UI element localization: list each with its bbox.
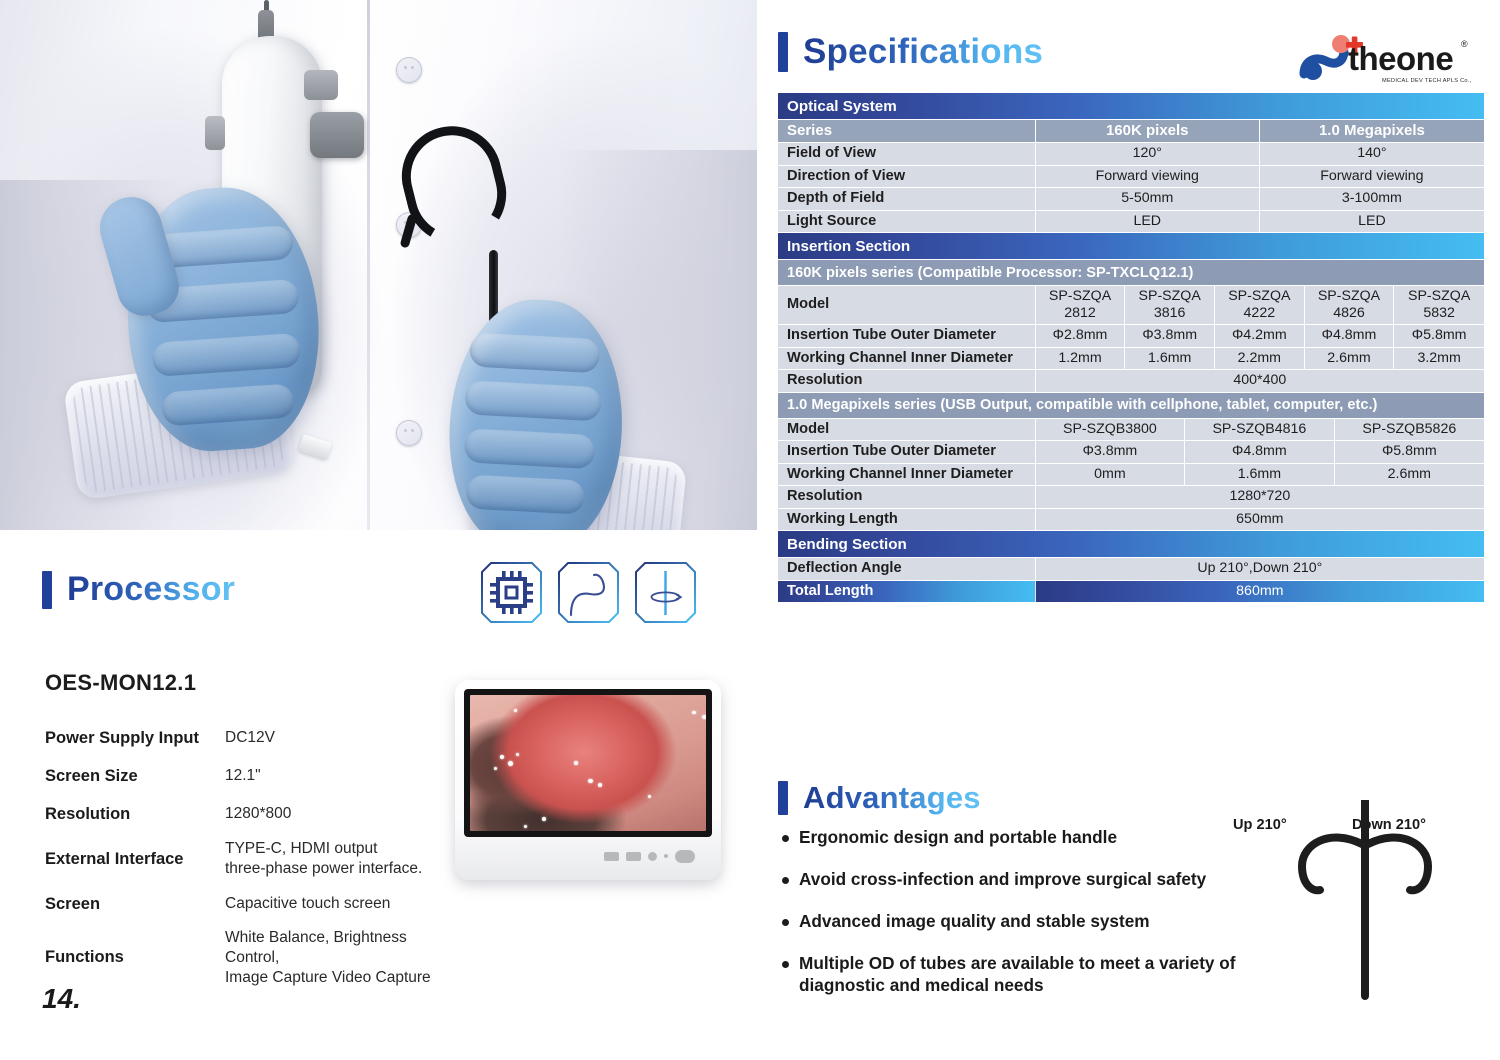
cell-value: 120° — [1036, 143, 1260, 166]
cell-value: Up 210°,Down 210° — [1036, 558, 1484, 581]
deflection-angle-diagram — [1250, 800, 1480, 1030]
row-label: Working Channel Inner Diameter — [778, 348, 1036, 371]
model-suffix: 4222 — [1244, 305, 1276, 321]
spec-key: Screen — [45, 895, 225, 914]
cell-value: Forward viewing — [1036, 166, 1260, 189]
table-row: Insertion Tube Outer Diameter Φ3.8mm Φ4.… — [778, 441, 1484, 464]
series-col-1mp: 1.0 Megapixels — [1260, 120, 1484, 143]
coat-button — [396, 57, 422, 83]
advantages-heading: Advantages — [778, 780, 981, 816]
theone-brand-logo: theone ® MEDICAL DEV TECH APLS Co., Ltd. — [1296, 30, 1472, 88]
advantages-title: Advantages — [803, 780, 981, 816]
row-label: Direction of View — [778, 166, 1036, 189]
table-row: Resolution 400*400 — [778, 370, 1484, 393]
model-suffix: 2812 — [1064, 305, 1096, 321]
row-label: Insertion Tube Outer Diameter — [778, 325, 1036, 348]
spec-value: White Balance, Brightness Control, Image… — [225, 928, 465, 987]
subband-160k-series: 160K pixels series (Compatible Processor… — [778, 260, 1484, 286]
cell-value: Φ4.2mm — [1215, 325, 1305, 348]
table-row-series-header: Series 160K pixels 1.0 Megapixels — [778, 120, 1484, 143]
rotation-axis-icon — [634, 561, 697, 624]
table-row: Field of View 120° 140° — [778, 143, 1484, 166]
model-suffix: 4826 — [1333, 305, 1365, 321]
row-label: Model — [778, 286, 1036, 325]
scope-trigger — [205, 116, 225, 150]
spec-row: Screen Capacitive touch screen — [45, 888, 465, 920]
table-row-models-1mp: Model SP-SZQB3800 SP-SZQB4816 SP-SZQB582… — [778, 419, 1484, 442]
accent-bar — [778, 32, 788, 72]
cell-value: Forward viewing — [1260, 166, 1484, 189]
cell-value: Φ2.8mm — [1036, 325, 1126, 348]
spec-row: Functions White Balance, Brightness Cont… — [45, 928, 465, 987]
processor-title: Processor — [67, 570, 235, 609]
cell-value: SP-SZQA2812 — [1036, 286, 1126, 325]
row-label: Light Source — [778, 211, 1036, 234]
cell-value: 1.6mm — [1125, 348, 1215, 371]
table-row: Deflection Angle Up 210°,Down 210° — [778, 558, 1484, 581]
table-row: Working Channel Inner Diameter 1.2mm 1.6… — [778, 348, 1484, 371]
model-suffix: 5832 — [1423, 305, 1455, 321]
scope-control-knob — [310, 112, 364, 158]
row-label: Working Channel Inner Diameter — [778, 464, 1036, 487]
hero-photo-doctor-with-endoscope — [0, 0, 757, 530]
cell-value: 1.2mm — [1036, 348, 1126, 371]
cell-value: SP-SZQB5826 — [1335, 419, 1484, 442]
band-insertion-section: Insertion Section — [778, 233, 1484, 260]
accent-bar — [42, 571, 52, 609]
coat-seam — [367, 0, 370, 530]
table-row: Working Length 650mm — [778, 509, 1484, 532]
spec-value: Capacitive touch screen — [225, 894, 390, 914]
spec-value: 1280*800 — [225, 804, 291, 824]
cell-value: SP-SZQA5832 — [1394, 286, 1484, 325]
model-prefix: SP-SZQA — [1139, 288, 1201, 304]
cell-value: 2.2mm — [1215, 348, 1305, 371]
spec-row: Power Supply Input DC12V — [45, 722, 465, 754]
spec-key: Screen Size — [45, 767, 225, 786]
row-label: Resolution — [778, 370, 1036, 393]
cell-value: Φ4.8mm — [1305, 325, 1395, 348]
spec-key: Functions — [45, 948, 225, 967]
table-row: Working Channel Inner Diameter 0mm 1.6mm… — [778, 464, 1484, 487]
brochure-page: Processor — [0, 0, 1500, 1060]
specifications-table: Optical System Series 160K pixels 1.0 Me… — [778, 93, 1484, 603]
model-suffix: 3816 — [1154, 305, 1186, 321]
series-label: Series — [778, 120, 1036, 143]
row-label: Field of View — [778, 143, 1036, 166]
monitor-indicator-led — [664, 854, 668, 858]
row-label: Working Length — [778, 509, 1036, 532]
advantage-text: Ergonomic design and portable handle — [799, 826, 1117, 848]
advantages-list: Ergonomic design and portable handle Avo… — [782, 826, 1272, 1016]
advantage-text: Avoid cross-infection and improve surgic… — [799, 868, 1206, 890]
cell-value: SP-SZQA4222 — [1215, 286, 1305, 325]
svg-text:MEDICAL DEV TECH APLS Co., Ltd: MEDICAL DEV TECH APLS Co., Ltd. — [1382, 78, 1472, 84]
series-col-160k: 160K pixels — [1036, 120, 1260, 143]
row-label: Model — [778, 419, 1036, 442]
left-column: Processor — [0, 0, 760, 1060]
row-label: Insertion Tube Outer Diameter — [778, 441, 1036, 464]
cell-value: 400*400 — [1036, 370, 1484, 393]
table-row: Insertion Tube Outer Diameter Φ2.8mm Φ3.… — [778, 325, 1484, 348]
cell-value: 1.6mm — [1185, 464, 1334, 487]
list-item: Multiple OD of tubes are available to me… — [782, 952, 1272, 996]
spec-row: Screen Size 12.1" — [45, 760, 465, 792]
cell-value: 3-100mm — [1260, 188, 1484, 211]
cell-value: Φ3.8mm — [1125, 325, 1215, 348]
monitor-bezel — [464, 689, 712, 837]
endoscopic-image-screen — [470, 695, 706, 831]
cell-value: SP-SZQA4826 — [1305, 286, 1395, 325]
processor-model-name: OES-MON12.1 — [45, 670, 196, 696]
flexible-curve-icon — [557, 561, 620, 624]
cell-value: SP-SZQB4816 — [1185, 419, 1334, 442]
logo-swoosh-icon — [1304, 35, 1350, 80]
specifications-heading: Specifications — [778, 32, 1043, 72]
band-optical-system: Optical System — [778, 93, 1484, 120]
cell-value: LED — [1036, 211, 1260, 234]
monitor-power-button[interactable] — [675, 850, 695, 863]
list-item: Ergonomic design and portable handle — [782, 826, 1272, 848]
processor-spec-list: Power Supply Input DC12V Screen Size 12.… — [45, 722, 465, 993]
cell-value: 2.6mm — [1305, 348, 1395, 371]
table-row: Depth of Field 5-50mm 3-100mm — [778, 188, 1484, 211]
monitor-button[interactable] — [626, 852, 641, 861]
subband-1mp-series: 1.0 Megapixels series (USB Output, compa… — [778, 393, 1484, 419]
cell-value: 860mm — [1036, 581, 1484, 604]
cell-value: 5-50mm — [1036, 188, 1260, 211]
advantage-text: Multiple OD of tubes are available to me… — [799, 952, 1272, 996]
cell-value: Φ3.8mm — [1036, 441, 1185, 464]
row-label: Deflection Angle — [778, 558, 1036, 581]
bullet-icon — [782, 835, 789, 842]
bullet-icon — [782, 877, 789, 884]
cell-value: Φ5.8mm — [1394, 325, 1484, 348]
bullet-icon — [782, 961, 789, 968]
cell-value: LED — [1260, 211, 1484, 234]
table-row: Light Source LED LED — [778, 211, 1484, 234]
bullet-icon — [782, 919, 789, 926]
accent-bar — [778, 781, 788, 815]
monitor-button[interactable] — [604, 852, 619, 861]
cell-value: Φ5.8mm — [1335, 441, 1484, 464]
spec-key: Resolution — [45, 805, 225, 824]
list-item: Avoid cross-infection and improve surgic… — [782, 868, 1272, 890]
model-prefix: SP-SZQA — [1408, 288, 1470, 304]
advantage-text: Advanced image quality and stable system — [799, 910, 1150, 932]
svg-text:®: ® — [1461, 39, 1468, 49]
model-prefix: SP-SZQA — [1049, 288, 1111, 304]
cell-value: 140° — [1260, 143, 1484, 166]
spec-key: Power Supply Input — [45, 729, 225, 748]
spec-value: TYPE-C, HDMI output three-phase power in… — [225, 839, 422, 879]
spec-row: Resolution 1280*800 — [45, 798, 465, 830]
coat-button — [396, 420, 422, 446]
specifications-title: Specifications — [803, 32, 1043, 72]
band-bending-section: Bending Section — [778, 531, 1484, 558]
cell-value: 2.6mm — [1335, 464, 1484, 487]
monitor-control-panel — [455, 838, 721, 874]
row-label: Depth of Field — [778, 188, 1036, 211]
table-row: Direction of View Forward viewing Forwar… — [778, 166, 1484, 189]
spec-value: DC12V — [225, 728, 275, 748]
row-label: Total Length — [778, 581, 1036, 604]
cell-value: Φ4.8mm — [1185, 441, 1334, 464]
chip-icon — [480, 561, 543, 624]
cell-value: 3.2mm — [1394, 348, 1484, 371]
cell-value: SP-SZQB3800 — [1036, 419, 1185, 442]
table-row-models-160k: Model SP-SZQA2812 SP-SZQA3816 SP-SZQA422… — [778, 286, 1484, 325]
spec-key: External Interface — [45, 850, 225, 869]
feature-icon-row — [480, 561, 697, 624]
row-label: Resolution — [778, 486, 1036, 509]
scope-upper-knob — [304, 70, 338, 100]
monitor-device-image — [455, 680, 721, 880]
table-row-total-length: Total Length 860mm — [778, 581, 1484, 604]
model-prefix: SP-SZQA — [1228, 288, 1290, 304]
table-row: Resolution 1280*720 — [778, 486, 1484, 509]
page-number: 14. — [42, 983, 81, 1015]
cell-value: 1280*720 — [1036, 486, 1484, 509]
cell-value: 0mm — [1036, 464, 1185, 487]
spec-value: 12.1" — [225, 766, 261, 786]
list-item: Advanced image quality and stable system — [782, 910, 1272, 932]
processor-section-heading: Processor — [42, 570, 235, 609]
svg-text:theone: theone — [1348, 40, 1453, 77]
monitor-button[interactable] — [648, 852, 657, 861]
cell-value: SP-SZQA3816 — [1125, 286, 1215, 325]
spec-row: External Interface TYPE-C, HDMI output t… — [45, 836, 465, 882]
model-prefix: SP-SZQA — [1318, 288, 1380, 304]
cell-value: 650mm — [1036, 509, 1484, 532]
